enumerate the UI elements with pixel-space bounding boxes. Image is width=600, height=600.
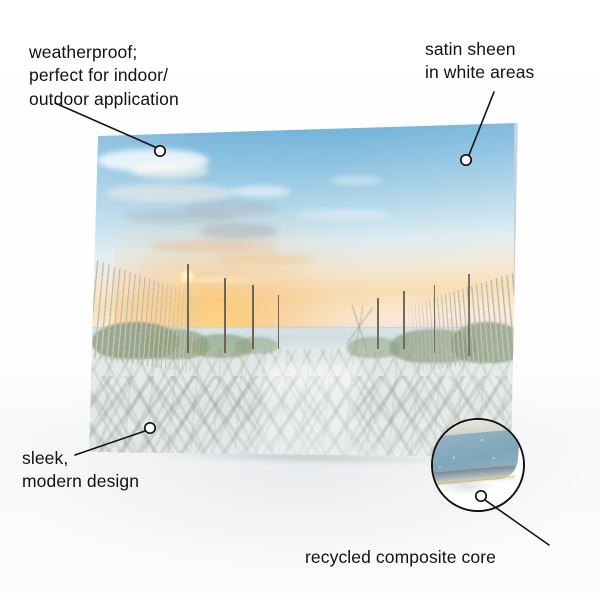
satin-sheen-highlight bbox=[88, 118, 520, 458]
callout-label-sleek-modern: sleek, modern design bbox=[22, 447, 139, 494]
corner-detail-magnifier[interactable] bbox=[431, 418, 525, 512]
beach-sunset-photograph bbox=[88, 118, 520, 458]
magnifier-contents bbox=[433, 420, 523, 510]
product-feature-illustration: weatherproof; perfect for indoor/ outdoo… bbox=[0, 0, 600, 600]
magnifier-inner-shadow bbox=[433, 482, 523, 502]
callout-label-weatherproof: weatherproof; perfect for indoor/ outdoo… bbox=[29, 41, 179, 111]
callout-label-recycled-core: recycled composite core bbox=[305, 546, 496, 569]
photo-panel[interactable] bbox=[88, 118, 520, 458]
callout-label-satin-sheen: satin sheen in white areas bbox=[425, 38, 534, 85]
panel-right-edge bbox=[514, 121, 520, 454]
